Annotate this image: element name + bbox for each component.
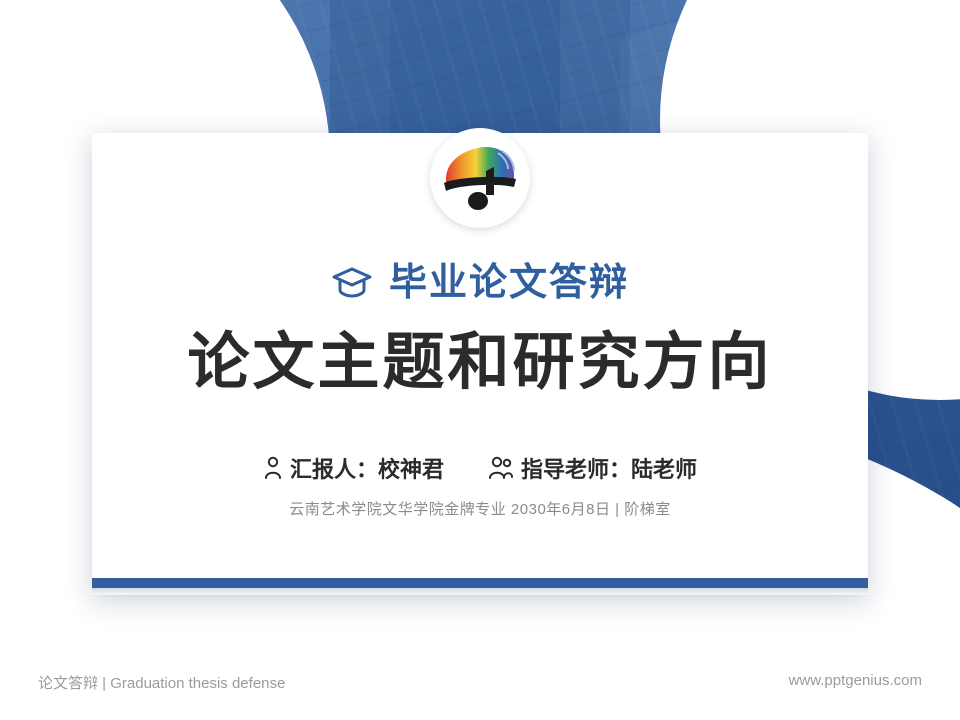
card-accent-bar <box>92 578 868 588</box>
slide-footer: 论文答辩 | Graduation thesis defense www.ppt… <box>0 648 960 720</box>
presenter-item: 汇报人：校神君 <box>263 452 444 484</box>
slide-meta: 云南艺术学院文华学院金牌专业 2030年6月8日 | 阶梯室 <box>0 498 960 519</box>
advisor-label: 指导老师：陆老师 <box>521 452 697 484</box>
subtitle-row: 毕业论文答辩 <box>0 262 960 304</box>
footer-left-text: 论文答辩 | Graduation thesis defense <box>38 672 285 693</box>
school-badge-emblem-icon <box>430 128 530 228</box>
advisor-item: 指导老师：陆老师 <box>488 452 697 484</box>
people-row: 汇报人：校神君 指导老师：陆老师 <box>0 452 960 484</box>
person-icon <box>263 456 283 480</box>
footer-right-url: www.pptgenius.com <box>789 672 922 689</box>
page-title: 论文主题和研究方向 <box>0 330 960 397</box>
graduation-cap-icon <box>331 262 373 304</box>
presentation-slide: 毕业论文答辩 论文主题和研究方向 汇报人：校神君 指导 <box>0 0 960 720</box>
card-bar-shadow <box>92 588 868 597</box>
presenter-label: 汇报人：校神君 <box>290 452 444 484</box>
two-persons-icon <box>488 456 514 480</box>
slide-subtitle: 毕业论文答辩 <box>389 264 629 302</box>
